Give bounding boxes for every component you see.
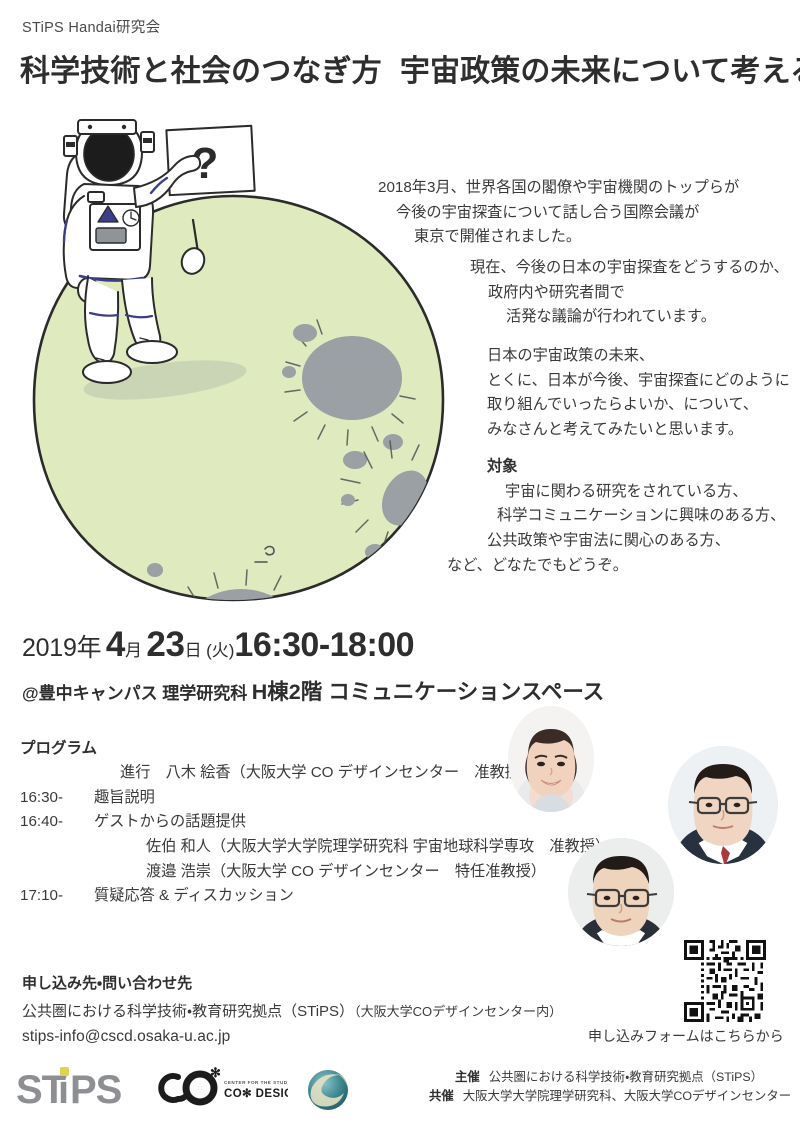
program-row-time [20,860,94,885]
qr-code[interactable] [684,940,766,1027]
title-left: 科学技術と社会のつなぎ方 [20,55,382,88]
program-row-text: 進行 八木 絵香（大阪大学 CO デザインセンター 准教授） [94,761,535,786]
contact-section: 申し込み先・問い合わせ先 公共圏における科学技術・教育研究拠点（STiPS）（大… [22,972,562,1046]
program-row-text: 趣旨説明 [94,786,155,811]
program-row-time: 17:10- [20,884,94,909]
program-row-time: 16:40- [20,810,94,835]
audience-heading: 対象 [487,455,785,480]
program-row-text: 質疑応答 & ディスカッション [94,884,294,909]
event-venue: @豊中キャンパス 理学研究科 H棟2階 コミュニケーションスペース [22,675,604,706]
portrait-watanabe-hirotaka [668,746,778,864]
program-row: 渡邉 浩崇（大阪大学 CO デザインセンター 特任准教授） [20,860,610,885]
event-year: 2019年 [22,634,101,662]
portrait-saeki-kazuto [568,838,674,946]
program-row: 佐伯 和人（大阪大学大学院理学研究科 宇宙地球科学専攻 准教授） [20,835,610,860]
portrait-yagi-eka [508,706,594,812]
program-row-text: 佐伯 和人（大阪大学大学院理学研究科 宇宙地球科学専攻 准教授） [94,835,610,860]
contact-email[interactable]: stips-info@cscd.osaka-u.ac.jp [22,1028,562,1046]
organizer-label: 主催 [455,1070,480,1084]
logo-stips: ST i PS [16,1063,128,1118]
program-row: 16:40- ゲストからの話題提供 [20,810,610,835]
body-block-2: 現在、今後の日本の宇宙探査をどうするのか、 政府内や研究者間で 活発な議論が行わ… [470,256,789,330]
venue-campus: @豊中キャンパス 理学研究科 [22,684,247,703]
contact-org-suffix: （大阪大学COデザインセンター内） [354,1004,562,1019]
contact-org: 公共圏における科学技術・教育研究拠点（STiPS）（大阪大学COデザインセンター… [22,1000,562,1021]
program-row-time [20,835,94,860]
event-weekday: (火) [206,641,234,660]
title-right: 宇宙政策の未来について考える [400,55,800,88]
contact-heading: 申し込み先・問い合わせ先 [22,972,562,993]
organizers-block: 主催公共圏における科学技術・教育研究拠点（STiPS） 共催大阪大学大学院理学研… [455,1068,791,1105]
body-block-3: 日本の宇宙政策の未来、 とくに、日本が今後、宇宙探査にどのように 取り組んでいっ… [487,344,790,443]
program-row: 17:10- 質疑応答 & ディスカッション [20,884,610,909]
event-month: 4 [106,625,125,664]
co-design-wordmark: CO✻ DESIGN [224,1087,288,1100]
program-row-time [20,761,94,786]
organizer-row: 主催公共圏における科学技術・教育研究拠点（STiPS） [455,1068,791,1087]
page-title: 科学技術と社会のつなぎ方宇宙政策の未来について考える [20,46,780,90]
svg-text:✻: ✻ [210,1067,221,1080]
logo-co-design: ✻ CENTER FOR THE STUDY OF CO✻ DESIGN [148,1067,288,1118]
venue-room: H棟2階 コミュニケーションスペース [252,680,605,704]
organizer-label: 共催 [429,1089,454,1103]
program-row-time: 16:30- [20,786,94,811]
logo-osaka-science [302,1065,354,1120]
program-row-text: 渡邉 浩崇（大阪大学 CO デザインセンター 特任准教授） [94,860,546,885]
event-datetime: 2019年 4月 23日 (火)16:30-18:00 [22,625,414,665]
organizer-row: 共催大阪大学大学院理学研究科、大阪大学COデザインセンター [429,1087,791,1106]
event-time: 16:30-18:00 [234,626,414,664]
body-block-audience: 対象 宇宙に関わる研究をされている方、 科学コミュニケーションに興味のある方、 … [487,455,785,578]
co-design-tagline: CENTER FOR THE STUDY OF [224,1080,288,1085]
organizer-value: 大阪大学大学院理学研究科、大阪大学COデザインセンター [463,1089,791,1103]
event-day: 23 [146,625,184,664]
body-block-1: 2018年3月、世界各国の閣僚や宇宙機関のトップらが 今後の宇宙探査について話し… [378,176,739,250]
poster-root: STiPS Handai研究会 科学技術と社会のつなぎ方宇宙政策の未来について考… [0,0,800,1122]
program-row-text: ゲストからの話題提供 [94,810,246,835]
poster-kicker: STiPS Handai研究会 [22,16,160,37]
qr-caption: 申し込みフォームはこちらから [588,1026,784,1046]
svg-text:PS: PS [70,1068,122,1112]
organizer-value: 公共圏における科学技術・教育研究拠点（STiPS） [489,1070,763,1084]
